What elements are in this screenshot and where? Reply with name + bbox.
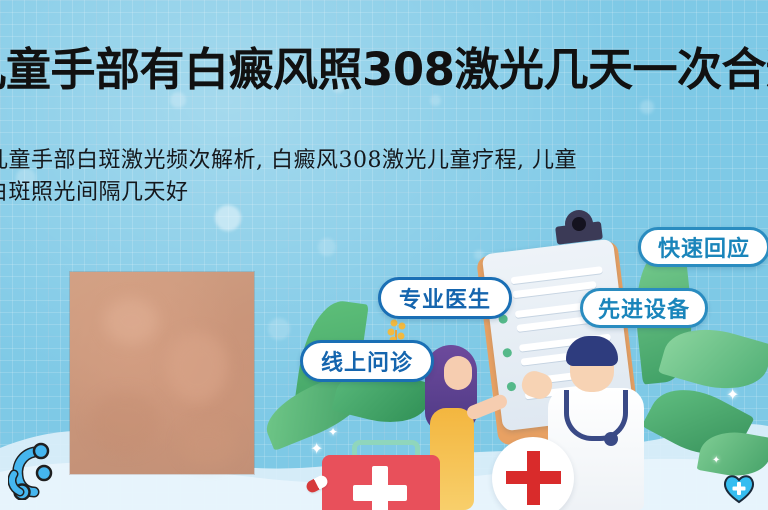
- skin-blotch: [104, 298, 158, 344]
- clipboard-clip-knob: [565, 210, 593, 238]
- page-title: 儿童手部有白癜风照308激光几天一次合适: [8, 38, 764, 100]
- skin-blotch: [166, 332, 228, 402]
- molecule-logo-icon: [8, 440, 60, 500]
- skin-blotch: [90, 392, 160, 452]
- badge-advanced-equipment[interactable]: 先进设备: [580, 288, 708, 328]
- subtitle-line-2: 白斑照光间隔几天好: [0, 177, 746, 209]
- checklist-dot: [502, 348, 512, 358]
- badge-online-consultation[interactable]: 线上问诊: [300, 340, 434, 382]
- patient-face: [444, 356, 472, 390]
- poster-canvas: ✦ ✦ ✦ ✦ 儿童手部有白癜风照308激光几天一次合适 儿童手部白斑激光频次解…: [0, 0, 768, 510]
- red-cross-horizontal: [506, 471, 561, 484]
- skin-blotch: [180, 422, 236, 466]
- medkit-cross-horizontal: [353, 485, 407, 501]
- subtitle-line-1: 儿童手部白斑激光频次解析, 白癜风308激光儿童疗程, 儿童: [0, 145, 746, 177]
- stethoscope-icon: [564, 390, 628, 441]
- stethoscope-bell-icon: [604, 432, 618, 446]
- badge-professional-doctor[interactable]: 专业医生: [378, 277, 512, 319]
- page-subtitle: 儿童手部白斑激光频次解析, 白癜风308激光儿童疗程, 儿童 白斑照光间隔几天好: [0, 145, 746, 209]
- sparkle-icon: ✦: [726, 388, 739, 404]
- skin-photo: [70, 272, 254, 474]
- checklist-dot: [506, 382, 516, 392]
- badge-fast-response[interactable]: 快速回应: [638, 227, 768, 267]
- sparkle-icon: ✦: [328, 426, 338, 438]
- sparkle-icon: ✦: [310, 442, 323, 458]
- sparkle-icon: ✦: [712, 456, 720, 466]
- medical-heart-icon: [722, 472, 756, 504]
